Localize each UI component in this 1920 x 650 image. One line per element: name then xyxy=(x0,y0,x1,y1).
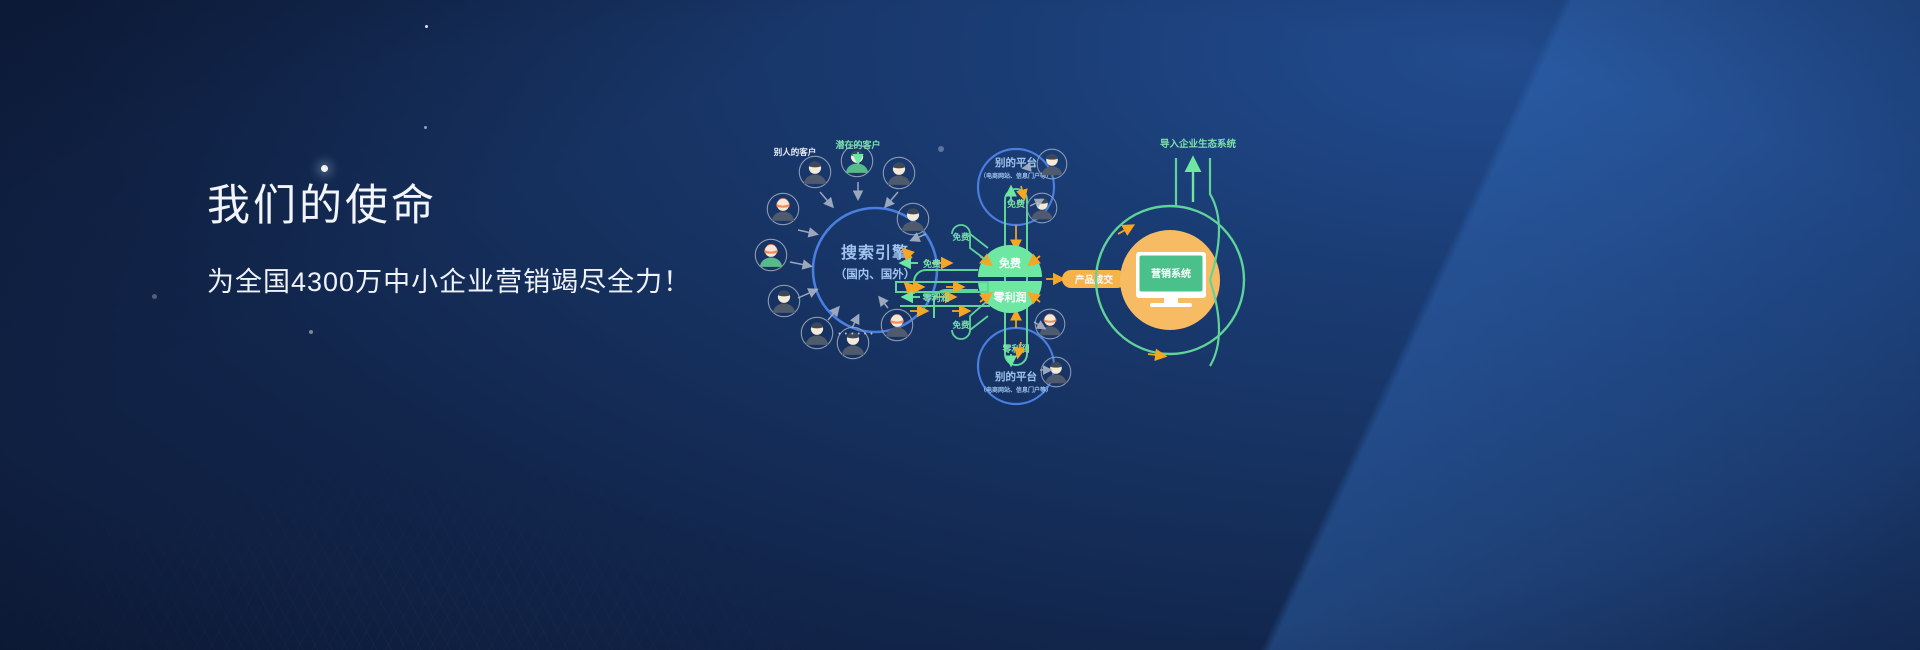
avatar xyxy=(881,309,912,340)
particle-dot xyxy=(309,330,313,334)
deal-pill-label: 产品成交 xyxy=(1075,274,1114,286)
import-ecosystem-label: 导入企业生态系统 xyxy=(1160,138,1237,150)
badge-zero-profit-lane: 零利润 xyxy=(921,292,949,303)
hub-bottom-label: 零利润 xyxy=(993,290,1027,304)
top-platform-down-arrow xyxy=(1016,186,1024,248)
other-platform-bottom-title: 别的平台 xyxy=(994,370,1037,383)
badge-free-lane: 免费 xyxy=(923,258,941,269)
badge-free-upper-branch: 免费 xyxy=(952,232,970,242)
avatar xyxy=(801,317,832,348)
ellipsis-label: • • • • • • xyxy=(838,331,873,338)
marketing-ecosystem-diagram: 搜索引擎 （国内、国外） • • • • • • 别人的客户 潜在的客户 别的平… xyxy=(740,130,1300,430)
avatar xyxy=(1037,149,1067,179)
particle-dot xyxy=(424,126,427,129)
marketing-system-label: 营销系统 xyxy=(1151,267,1191,280)
avatar xyxy=(767,193,798,224)
search-engine-title: 搜索引擎 xyxy=(841,243,909,262)
potential-customers-label: 潜在的客户 xyxy=(835,139,880,150)
hub-top-label: 免费 xyxy=(999,256,1021,270)
badge-zero-profit-bottom-platform: 零利润 xyxy=(1001,343,1029,354)
particle-dot xyxy=(425,25,428,28)
avatar xyxy=(755,239,786,270)
avatar xyxy=(883,157,914,188)
search-engine-subtitle: （国内、国外） xyxy=(835,267,916,281)
avatar xyxy=(1041,357,1071,387)
hub-upper-hook-branch xyxy=(952,225,988,260)
particle-dot xyxy=(152,294,157,299)
badge-free-lower-branch: 免费 xyxy=(952,320,970,330)
avatar xyxy=(768,285,799,316)
others-customers-label: 别人的客户 xyxy=(773,147,817,157)
other-platform-bottom-subtitle: （电商网站、信息门户等） xyxy=(980,386,1052,394)
avatar xyxy=(1035,309,1065,339)
particle-dot-glow xyxy=(321,165,328,172)
badge-free-top-platform: 免费 xyxy=(1007,198,1025,209)
avatar xyxy=(1027,193,1057,223)
avatar xyxy=(897,203,928,234)
avatar xyxy=(799,156,830,187)
other-platform-top-subtitle: （电商网站、信息门户等） xyxy=(980,172,1052,180)
